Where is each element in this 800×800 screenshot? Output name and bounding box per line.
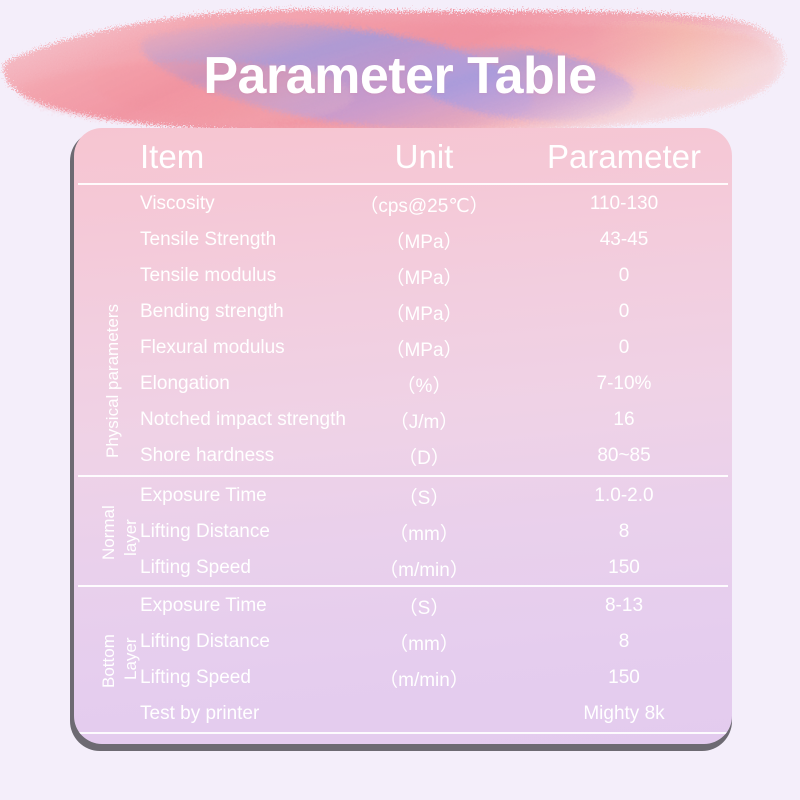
row-item: Lifting Distance xyxy=(140,521,270,543)
row-parameter: 150 xyxy=(529,557,719,579)
divider-bottom xyxy=(78,732,728,734)
table-row: Exposure Time （S） 1.0-2.0 xyxy=(74,478,732,514)
row-unit: （D） xyxy=(329,443,519,470)
row-item: Test by printer xyxy=(140,703,259,725)
row-item: Notched impact strength xyxy=(140,409,346,431)
row-parameter: 16 xyxy=(529,409,719,431)
table-row: Lifting Speed （m/min） 150 xyxy=(74,660,732,696)
divider-header xyxy=(78,183,728,185)
row-parameter: 8 xyxy=(529,631,719,653)
row-unit: （S） xyxy=(329,593,519,620)
column-header-parameter: Parameter xyxy=(524,138,724,176)
row-unit: （J/m） xyxy=(329,407,519,434)
row-parameter: 43-45 xyxy=(529,229,719,251)
row-unit: （mm） xyxy=(329,519,519,546)
row-unit: （MPa） xyxy=(329,299,519,326)
row-item: Elongation xyxy=(140,373,230,395)
row-item: Tensile Strength xyxy=(140,229,276,251)
row-item: Lifting Speed xyxy=(140,557,251,579)
row-parameter: 1.0-2.0 xyxy=(529,485,719,507)
parameter-table-card: Item Unit Parameter Physical parameters … xyxy=(74,128,732,744)
table-row: Lifting Distance （mm） 8 xyxy=(74,514,732,550)
row-unit: （MPa） xyxy=(329,227,519,254)
table-row: Lifting Speed （m/min） 150 xyxy=(74,550,732,586)
parameter-table: Item Unit Parameter Physical parameters … xyxy=(74,128,732,744)
row-unit: （mm） xyxy=(329,629,519,656)
row-parameter: 0 xyxy=(529,265,719,287)
table-header-row: Item Unit Parameter xyxy=(74,134,732,182)
row-parameter: 0 xyxy=(529,337,719,359)
table-row: Notched impact strength （J/m） 16 xyxy=(74,402,732,438)
table-row: Lifting Distance （mm） 8 xyxy=(74,624,732,660)
column-header-unit: Unit xyxy=(329,138,519,176)
row-item: Exposure Time xyxy=(140,485,267,507)
row-item: Lifting Speed xyxy=(140,667,251,689)
row-parameter: 110-130 xyxy=(529,193,719,215)
row-item: Shore hardness xyxy=(140,445,274,467)
row-unit: （cps@25℃） xyxy=(329,191,519,218)
row-parameter: 8 xyxy=(529,521,719,543)
row-parameter: 7-10% xyxy=(529,373,719,395)
row-unit: （%） xyxy=(329,371,519,398)
table-row: Elongation （%） 7-10% xyxy=(74,366,732,402)
row-item: Lifting Distance xyxy=(140,631,270,653)
divider-physical-normal xyxy=(78,475,728,477)
table-row: Flexural modulus （MPa） 0 xyxy=(74,330,732,366)
table-row: Viscosity （cps@25℃） 110-130 xyxy=(74,186,732,222)
row-unit: （MPa） xyxy=(329,263,519,290)
row-item: Exposure Time xyxy=(140,595,267,617)
row-parameter: Mighty 8k xyxy=(529,703,719,725)
page-title: Parameter Table xyxy=(0,46,800,106)
row-unit: （MPa） xyxy=(329,335,519,362)
row-parameter: 150 xyxy=(529,667,719,689)
table-row: Shore hardness （D） 80~85 xyxy=(74,438,732,474)
row-parameter: 8-13 xyxy=(529,595,719,617)
table-row: Test by printer Mighty 8k xyxy=(74,696,732,732)
table-row: Exposure Time （S） 8-13 xyxy=(74,588,732,624)
row-unit: （m/min） xyxy=(329,665,519,692)
table-row: Bending strength （MPa） 0 xyxy=(74,294,732,330)
row-item: Flexural modulus xyxy=(140,337,285,359)
column-header-item: Item xyxy=(140,138,204,176)
row-unit: （m/min） xyxy=(329,555,519,582)
table-row: Tensile Strength （MPa） 43-45 xyxy=(74,222,732,258)
row-item: Viscosity xyxy=(140,193,215,215)
row-unit: （S） xyxy=(329,483,519,510)
row-parameter: 0 xyxy=(529,301,719,323)
row-parameter: 80~85 xyxy=(529,445,719,467)
table-row: Tensile modulus （MPa） 0 xyxy=(74,258,732,294)
row-item: Tensile modulus xyxy=(140,265,276,287)
row-item: Bending strength xyxy=(140,301,284,323)
